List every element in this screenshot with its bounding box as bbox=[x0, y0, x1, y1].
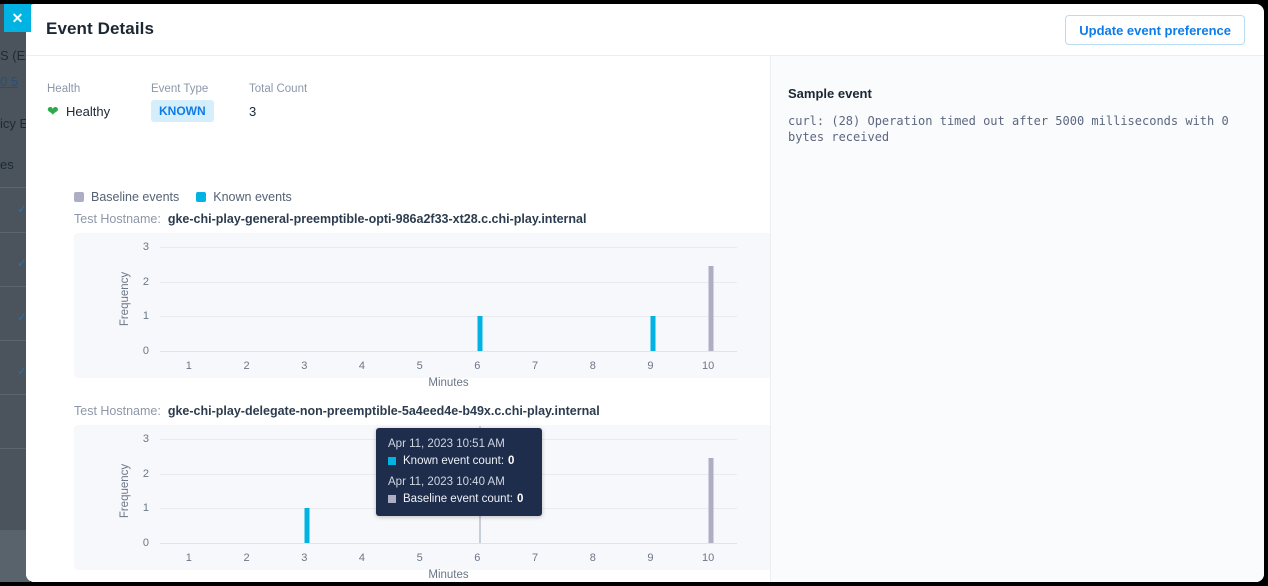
y-axis-tick-label: 3 bbox=[143, 241, 149, 253]
event-meta-row: Health ❤ Healthy Event Type KNOWN Total … bbox=[47, 83, 335, 122]
event-details-modal: Event Details Update event preference He… bbox=[26, 4, 1264, 582]
chart-bar[interactable] bbox=[305, 508, 310, 543]
total-count-value: 3 bbox=[249, 104, 307, 119]
x-axis-tick-label: 7 bbox=[532, 360, 538, 372]
chart-tooltip: Apr 11, 2023 10:51 AM Known event count:… bbox=[376, 428, 542, 516]
x-axis-tick-label: 3 bbox=[301, 552, 307, 564]
total-count-label: Total Count bbox=[249, 83, 307, 95]
shield-heart-icon: ❤ bbox=[47, 105, 60, 118]
modal-header: Event Details Update event preference bbox=[26, 4, 1264, 56]
chart-legend: Baseline events Known events bbox=[74, 190, 309, 204]
legend-label-baseline: Baseline events bbox=[91, 190, 179, 204]
hostname-value: gke-chi-play-delegate-non-preemptible-5a… bbox=[168, 404, 600, 418]
chart-bar[interactable] bbox=[478, 316, 483, 351]
backdrop-text-fragment: icy E bbox=[0, 116, 28, 131]
health-label: Health bbox=[47, 83, 123, 95]
y-axis-title: Frequency bbox=[119, 272, 131, 326]
x-axis-tick-label: 8 bbox=[590, 360, 596, 372]
sample-event-title: Sample event bbox=[788, 86, 872, 101]
legend-item-baseline[interactable]: Baseline events bbox=[74, 190, 179, 204]
gridline bbox=[160, 247, 737, 248]
left-pane: Health ❤ Healthy Event Type KNOWN Total … bbox=[26, 56, 770, 582]
x-axis-tick-label: 10 bbox=[702, 360, 714, 372]
chart-plot-area[interactable]: 012312345678910FrequencyMinutes bbox=[160, 247, 737, 351]
x-axis-tick-label: 2 bbox=[243, 552, 249, 564]
modal-body: Health ❤ Healthy Event Type KNOWN Total … bbox=[26, 56, 1264, 582]
tooltip-timestamp: Apr 11, 2023 10:51 AM bbox=[388, 438, 530, 450]
y-axis-tick-label: 1 bbox=[143, 502, 149, 514]
legend-item-known[interactable]: Known events bbox=[196, 190, 292, 204]
backdrop-link-fragment: 0 5 bbox=[0, 74, 18, 89]
chart-panel[interactable]: 012312345678910FrequencyMinutes Apr 11, … bbox=[74, 425, 777, 570]
x-axis-tick-label: 4 bbox=[359, 552, 365, 564]
hostname-value: gke-chi-play-general-preemptible-opti-98… bbox=[168, 212, 587, 226]
x-axis-tick-label: 7 bbox=[532, 552, 538, 564]
x-axis-tick-label: 1 bbox=[186, 360, 192, 372]
event-type-label: Event Type bbox=[151, 83, 221, 95]
hostname-line: Test Hostname: gke-chi-play-delegate-non… bbox=[74, 404, 777, 418]
tooltip-series-label: Baseline event count: bbox=[403, 493, 513, 505]
total-count-field: Total Count 3 bbox=[249, 83, 307, 122]
x-axis-title: Minutes bbox=[428, 377, 468, 389]
x-axis-tick-label: 5 bbox=[417, 360, 423, 372]
legend-label-known: Known events bbox=[213, 190, 292, 204]
sample-event-body: curl: (28) Operation timed out after 500… bbox=[788, 113, 1240, 145]
x-axis-tick-label: 1 bbox=[186, 552, 192, 564]
tooltip-series-label: Known event count: bbox=[403, 455, 504, 467]
x-axis-tick-label: 3 bbox=[301, 360, 307, 372]
tooltip-swatch-known bbox=[388, 457, 396, 465]
y-axis-tick-label: 0 bbox=[143, 345, 149, 357]
legend-swatch-known bbox=[196, 192, 206, 202]
gridline bbox=[160, 282, 737, 283]
x-axis-tick-label: 6 bbox=[474, 360, 480, 372]
right-pane: Sample event curl: (28) Operation timed … bbox=[770, 56, 1264, 582]
x-axis-tick-label: 8 bbox=[590, 552, 596, 564]
legend-swatch-baseline bbox=[74, 192, 84, 202]
chart-bar[interactable] bbox=[709, 458, 714, 543]
y-axis-tick-label: 0 bbox=[143, 537, 149, 549]
hostname-line: Test Hostname: gke-chi-play-general-pree… bbox=[74, 212, 777, 226]
y-axis-tick-label: 2 bbox=[143, 276, 149, 288]
x-axis-tick-label: 2 bbox=[243, 360, 249, 372]
x-axis-tick-label: 5 bbox=[417, 552, 423, 564]
x-axis-tick-label: 9 bbox=[647, 552, 653, 564]
hostname-label: Test Hostname: bbox=[74, 212, 161, 226]
x-axis-tick-label: 6 bbox=[474, 552, 480, 564]
update-event-preference-button[interactable]: Update event preference bbox=[1065, 15, 1245, 45]
y-axis-tick-label: 2 bbox=[143, 468, 149, 480]
page-title: Event Details bbox=[46, 19, 154, 39]
tooltip-swatch-baseline bbox=[388, 495, 396, 503]
tooltip-row: Baseline event count: 0 bbox=[388, 493, 530, 505]
close-icon[interactable]: ✕ bbox=[4, 4, 31, 32]
event-type-value: KNOWN bbox=[151, 104, 221, 122]
tooltip-timestamp: Apr 11, 2023 10:40 AM bbox=[388, 476, 530, 488]
x-axis-title: Minutes bbox=[428, 569, 468, 581]
x-axis-line bbox=[160, 543, 737, 544]
health-field: Health ❤ Healthy bbox=[47, 83, 123, 122]
y-axis-tick-label: 3 bbox=[143, 433, 149, 445]
x-axis-tick-label: 4 bbox=[359, 360, 365, 372]
backdrop-text-fragment: es bbox=[0, 157, 14, 172]
event-type-field: Event Type KNOWN bbox=[151, 83, 221, 122]
tooltip-series-value: 0 bbox=[508, 455, 514, 467]
health-status-text: Healthy bbox=[66, 104, 110, 119]
tooltip-group: Apr 11, 2023 10:40 AM Baseline event cou… bbox=[388, 476, 530, 505]
chart-bar[interactable] bbox=[709, 266, 714, 351]
chart-block: Test Hostname: gke-chi-play-delegate-non… bbox=[74, 404, 777, 570]
tooltip-row: Known event count: 0 bbox=[388, 455, 530, 467]
y-axis-title: Frequency bbox=[119, 464, 131, 518]
tooltip-group: Apr 11, 2023 10:51 AM Known event count:… bbox=[388, 438, 530, 467]
x-axis-line bbox=[160, 351, 737, 352]
status-badge: KNOWN bbox=[151, 100, 214, 122]
y-axis-tick-label: 1 bbox=[143, 310, 149, 322]
x-axis-tick-label: 10 bbox=[702, 552, 714, 564]
tooltip-series-value: 0 bbox=[517, 493, 523, 505]
health-value: ❤ Healthy bbox=[47, 104, 123, 119]
x-axis-tick-label: 9 bbox=[647, 360, 653, 372]
hostname-label: Test Hostname: bbox=[74, 404, 161, 418]
chart-panel[interactable]: 012312345678910FrequencyMinutes bbox=[74, 233, 777, 378]
chart-bar[interactable] bbox=[651, 316, 656, 351]
chart-block: Test Hostname: gke-chi-play-general-pree… bbox=[74, 212, 777, 378]
